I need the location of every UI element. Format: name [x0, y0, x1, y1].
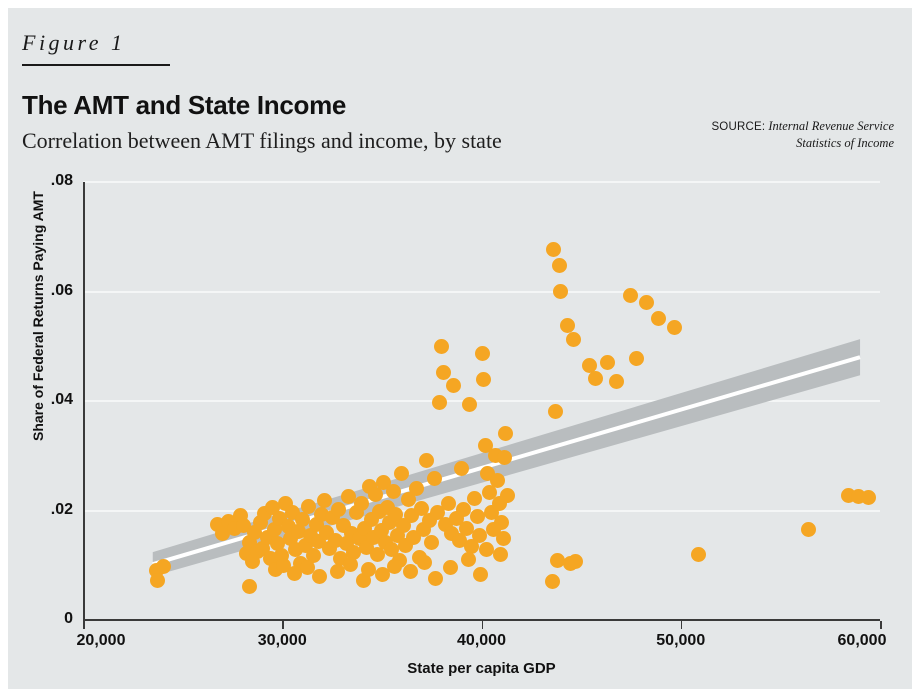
y-axis-title-holder: Share of Federal Returns Paying AMT	[8, 8, 68, 689]
scatter-point	[424, 535, 439, 550]
x-tick-label: 40,000	[457, 632, 506, 650]
scatter-point	[545, 574, 560, 589]
scatter-point	[566, 332, 581, 347]
x-tick-label: 30,000	[258, 632, 307, 650]
x-tick-label: 50,000	[656, 632, 705, 650]
scatter-point	[467, 491, 482, 506]
y-axis-title: Share of Federal Returns Paying AMT	[30, 136, 46, 496]
scatter-point	[600, 355, 615, 370]
scatter-point	[242, 579, 257, 594]
scatter-point	[361, 562, 376, 577]
x-tick-mark	[83, 621, 85, 629]
scatter-point	[443, 560, 458, 575]
x-axis-title: State per capita GDP	[83, 660, 880, 677]
scatter-point	[470, 509, 485, 524]
y-axis-line	[83, 182, 85, 620]
scatter-point	[476, 372, 491, 387]
x-tick-mark	[880, 621, 882, 629]
scatter-point	[295, 512, 310, 527]
scatter-point	[553, 284, 568, 299]
scatter-point	[500, 488, 515, 503]
scatter-point	[317, 493, 332, 508]
scatter-point	[330, 564, 345, 579]
scatter-point	[801, 522, 816, 537]
scatter-point	[473, 567, 488, 582]
scatter-point	[156, 559, 171, 574]
plot-area	[83, 182, 880, 620]
x-tick-mark	[681, 621, 683, 629]
x-tick-mark	[282, 621, 284, 629]
scatter-point	[588, 371, 603, 386]
chart-plot: 0.02.04.06.08 20,00030,00040,00050,00060…	[8, 8, 912, 689]
scatter-point	[403, 564, 418, 579]
scatter-point	[432, 395, 447, 410]
x-tick-label: 60,000	[838, 632, 887, 650]
scatter-point	[691, 547, 706, 562]
scatter-point	[490, 473, 505, 488]
scatter-point	[394, 466, 409, 481]
scatter-point	[475, 346, 490, 361]
x-tick-mark	[482, 621, 484, 629]
scatter-point	[552, 258, 567, 273]
scatter-point	[434, 339, 449, 354]
scatter-point	[331, 502, 346, 517]
scatter-point	[446, 378, 461, 393]
scatter-point	[667, 320, 682, 335]
x-tick-label: 20,000	[77, 632, 126, 650]
scatter-point	[454, 461, 469, 476]
figure-container: Figure 1 The AMT and State Income Correl…	[8, 8, 912, 689]
scatter-point	[861, 490, 876, 505]
scatter-point	[409, 481, 424, 496]
scatter-point	[428, 571, 443, 586]
scatter-point	[150, 573, 165, 588]
scatter-point	[494, 515, 509, 530]
scatter-point	[441, 496, 456, 511]
scatter-point	[312, 569, 327, 584]
